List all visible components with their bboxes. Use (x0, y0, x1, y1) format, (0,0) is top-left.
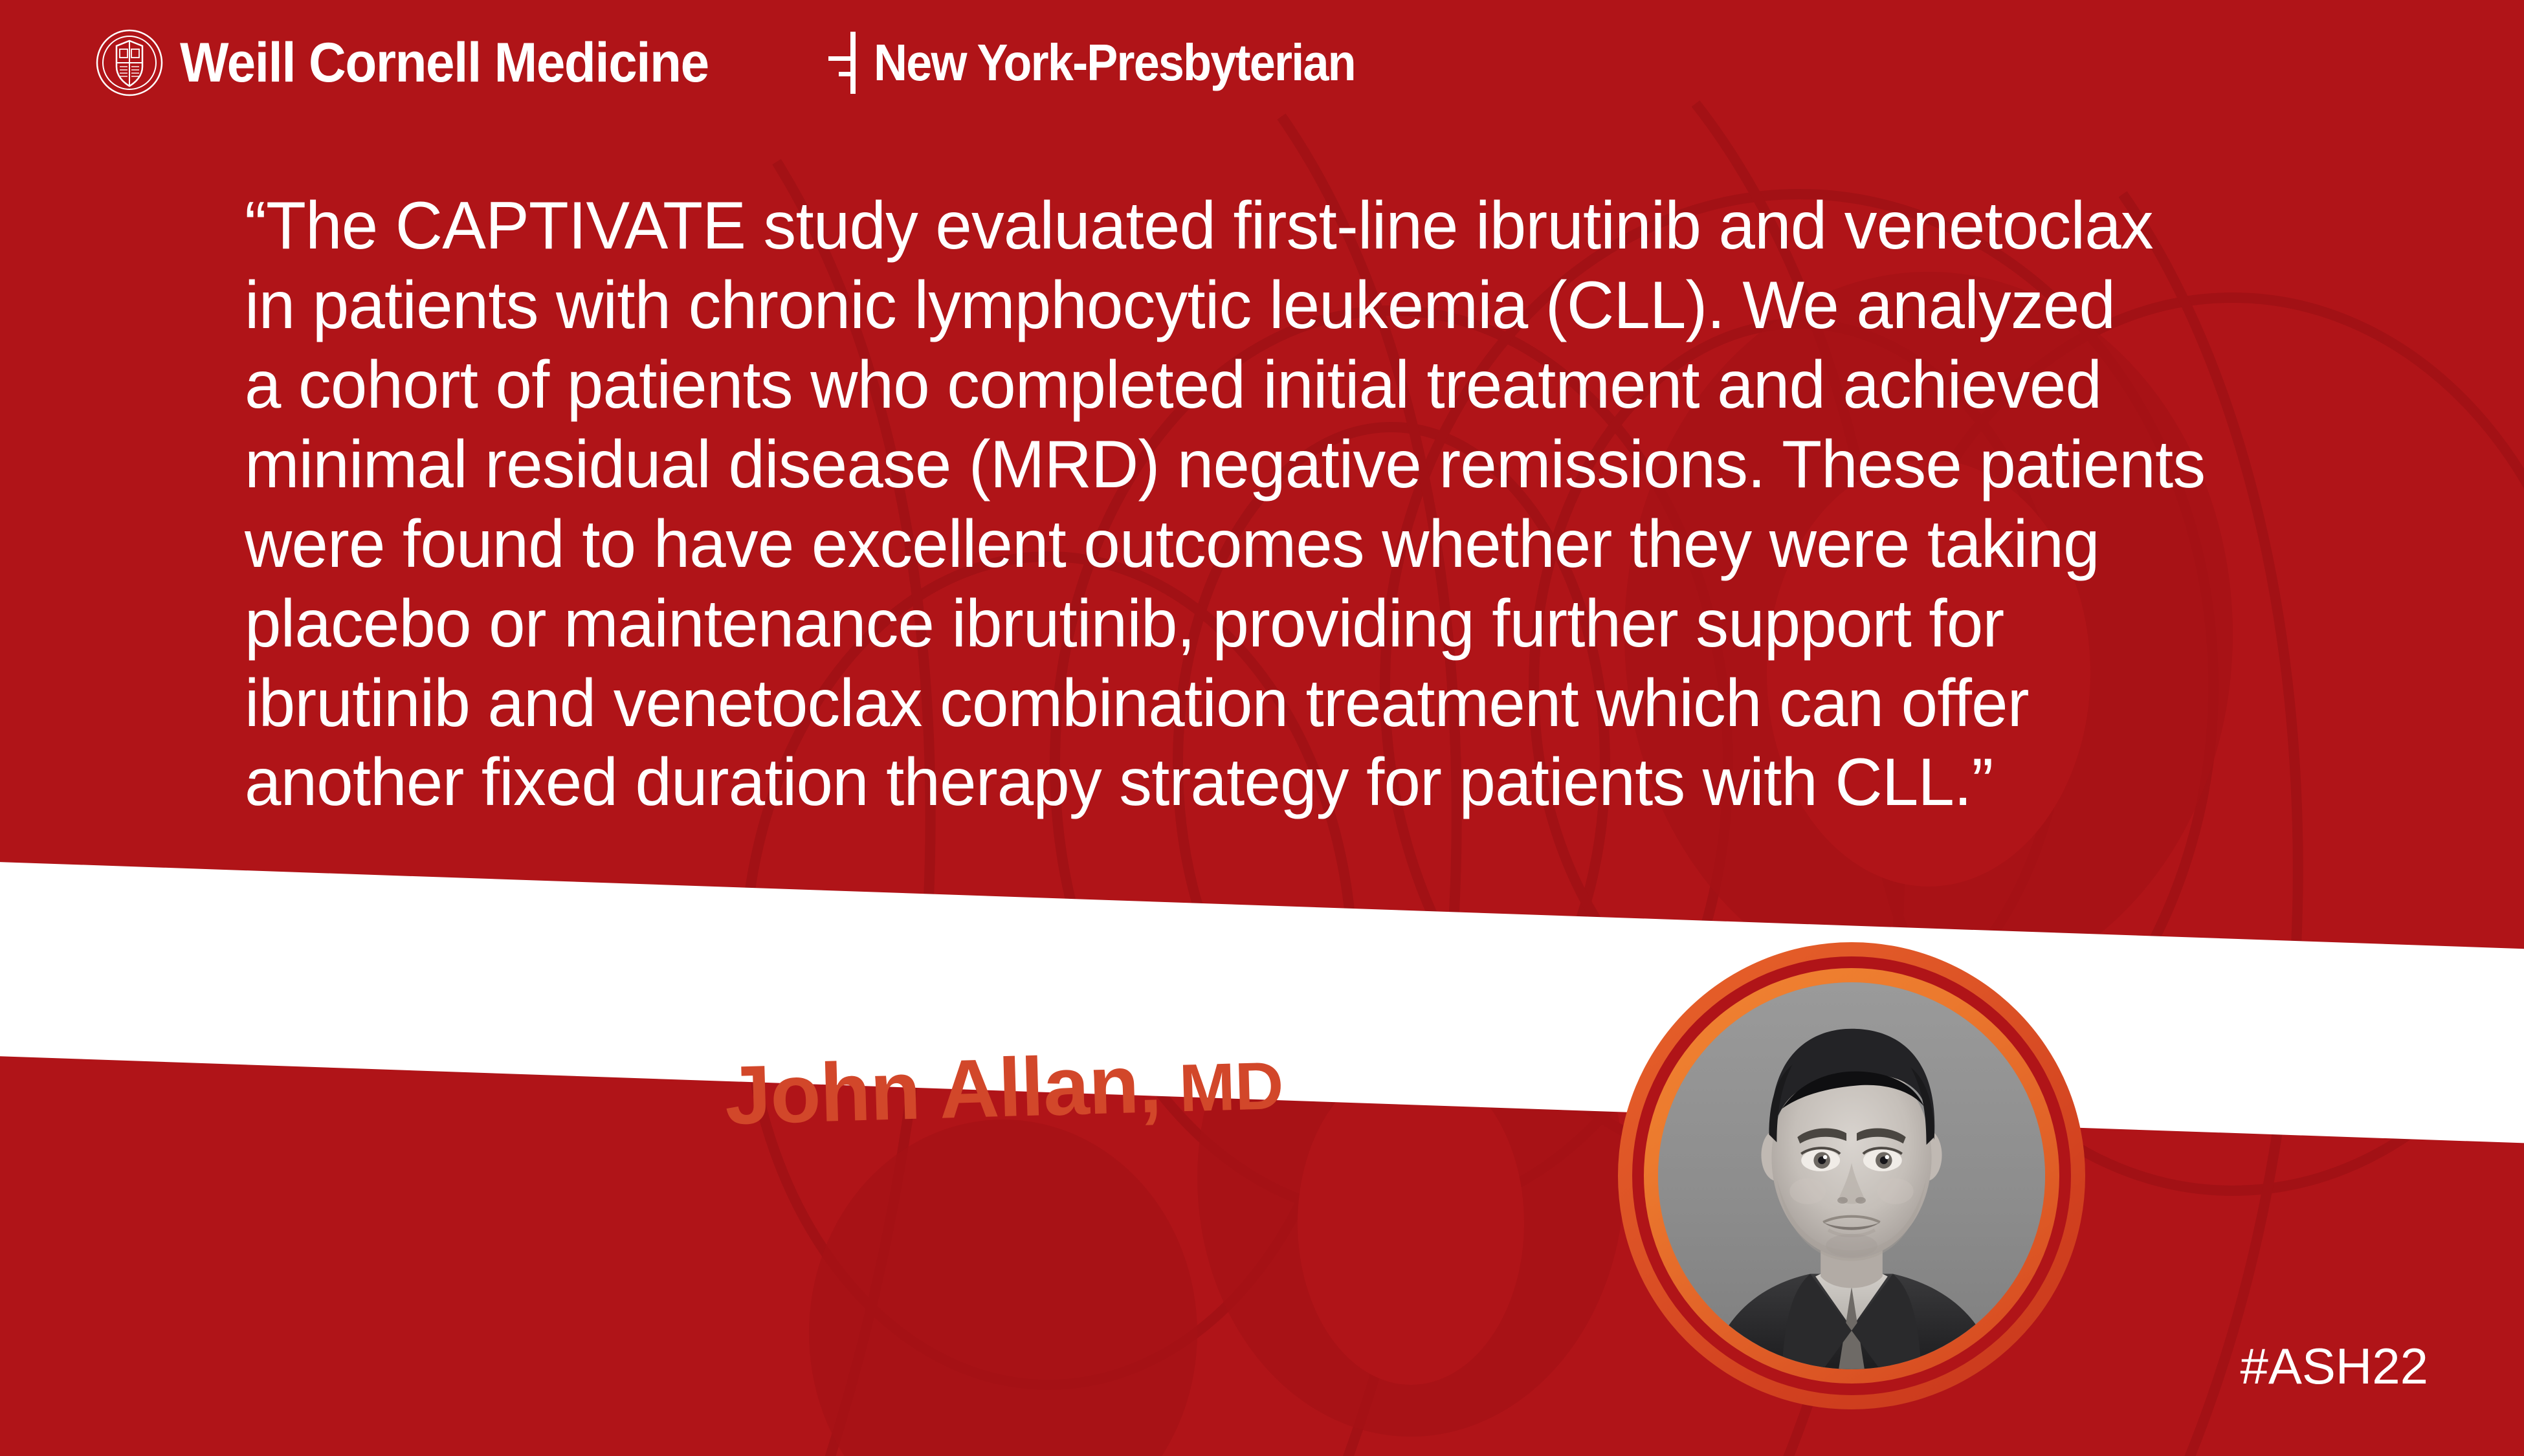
brand-lockup: Weill Cornell Medicine New York-Presbyte… (96, 27, 1409, 98)
quote-line: in patients with chronic lymphocytic leu… (245, 266, 2226, 346)
cornell-seal-icon (96, 29, 163, 96)
quote-line: “The CAPTIVATE study evaluated first-lin… (245, 186, 2226, 266)
nyp-wordmark: New York-Presbyterian (874, 37, 1355, 89)
speaker-credential: MD (1179, 1052, 1285, 1122)
quote-card: Weill Cornell Medicine New York-Presbyte… (0, 0, 2524, 1456)
nyp-lockup: New York-Presbyterian (827, 29, 1409, 96)
speaker-name: John Allan, MD (724, 1039, 1284, 1138)
quote-text: “The CAPTIVATE study evaluated first-lin… (245, 186, 2226, 822)
hashtag: #ASH22 (2240, 1341, 2428, 1391)
quote-line: were found to have excellent outcomes wh… (245, 505, 2226, 584)
quote-line: minimal residual disease (MRD) negative … (245, 425, 2226, 505)
quote-line: ibrutinib and venetoclax combination tre… (245, 664, 2226, 744)
speaker-portrait (1618, 942, 2085, 1409)
nyp-flag-icon (827, 29, 858, 96)
speaker-name-main: John Allan, (724, 1042, 1162, 1138)
quote-line: a cohort of patients who completed initi… (245, 346, 2226, 425)
quote-line: placebo or maintenance ibrutinib, provid… (245, 584, 2226, 664)
avatar (1658, 982, 2045, 1369)
weill-cornell-medicine-wordmark: Weill Cornell Medicine (180, 35, 709, 91)
quote-line: another fixed duration therapy strategy … (245, 743, 2226, 822)
